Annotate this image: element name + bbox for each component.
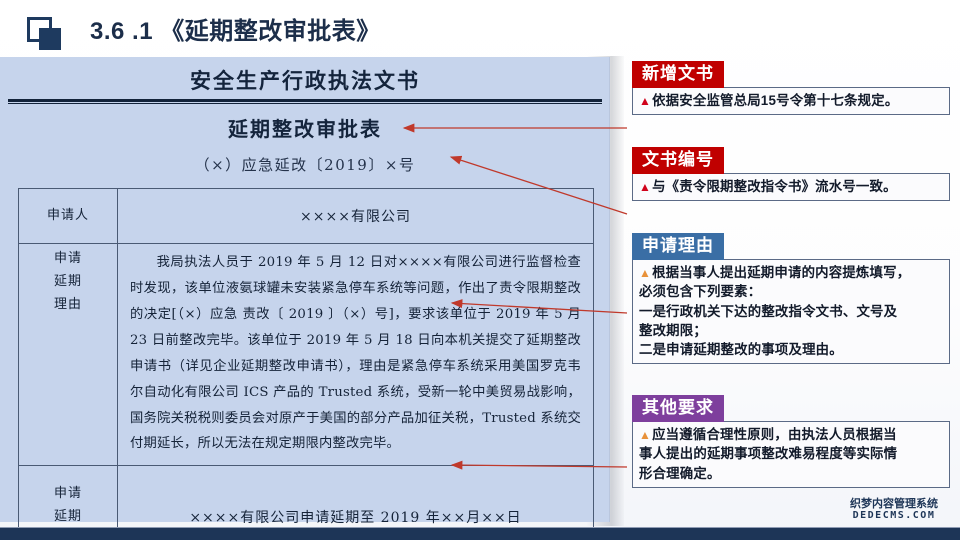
annotation-body: ▲根据当事人提出延期申请的内容提炼填写， 必须包含下列要素： 一是行政机关下达的…	[632, 259, 950, 363]
document-content: 安全生产行政执法文书 延期整改审批表 （×）应急延改〔2019〕×号 申请人 ×…	[0, 57, 610, 522]
annotation-body: ▲与《责令限期整改指令书》流水号一致。	[632, 173, 950, 201]
heading-divider	[8, 99, 602, 105]
annotation-line: ▲与《责令限期整改指令书》流水号一致。	[639, 177, 943, 196]
row-value-reason: 我局执法人员于 2019 年 5 月 12 日对××××有限公司进行监督检查时发…	[118, 244, 594, 466]
annotation-tag: 文书编号	[632, 147, 724, 174]
annotation-document-number: 文书编号 ▲与《责令限期整改指令书》流水号一致。	[632, 147, 950, 201]
annotation-other-requirements: 其他要求 ▲应当遵循合理性原则，由执法人员根据当 事人提出的延期事项整改难易程度…	[632, 395, 950, 488]
annotation-tag: 申请理由	[632, 233, 724, 260]
table-row: 申请延期理由 我局执法人员于 2019 年 5 月 12 日对××××有限公司进…	[19, 244, 594, 466]
table-row: 申请人 ××××有限公司	[19, 189, 594, 244]
page-title: 3.6 .1 《延期整改审批表》	[90, 16, 381, 48]
annotation-line: 事人提出的延期事项整改难易程度等实际情	[639, 444, 943, 463]
double-square-logo-icon	[27, 17, 63, 51]
divider-line-thin	[8, 103, 602, 104]
annotation-line: 整改期限；	[639, 321, 943, 340]
watermark: 织梦内容管理系统 DEDECMS.COM	[832, 498, 956, 522]
logo-filled-square	[39, 28, 61, 50]
annotation-line: 二是申请延期整改的事项及理由。	[639, 340, 943, 359]
divider-line-thick	[8, 99, 602, 102]
annotation-tag: 其他要求	[632, 395, 724, 422]
slide-header: 3.6 .1 《延期整改审批表》	[0, 0, 960, 56]
document-subheading: 延期整改审批表	[0, 113, 610, 142]
row-value-applicant: ××××有限公司	[118, 189, 594, 244]
document-pane: 安全生产行政执法文书 延期整改审批表 （×）应急延改〔2019〕×号 申请人 ×…	[0, 57, 610, 522]
annotation-line: ▲应当遵循合理性原则，由执法人员根据当	[639, 425, 943, 444]
watermark-cn: 织梦内容管理系统	[832, 498, 956, 510]
bottom-bar	[0, 527, 960, 540]
annotation-line: 一是行政机关下达的整改指令文书、文号及	[639, 302, 943, 321]
red-triangle-icon: ▲	[639, 180, 651, 194]
annotation-line: 形合理确定。	[639, 464, 943, 483]
slide-canvas: 3.6 .1 《延期整改审批表》 安全生产行政执法文书 延期整改审批表 （×）应…	[0, 0, 960, 540]
approval-form-table: 申请人 ××××有限公司 申请延期理由 我局执法人员于 2019 年 5 月 1…	[18, 188, 594, 540]
red-triangle-icon: ▲	[639, 94, 651, 108]
orange-triangle-icon: ▲	[639, 428, 651, 442]
row-label-applicant: 申请人	[19, 189, 118, 244]
annotation-line: 必须包含下列要素：	[639, 282, 943, 301]
annotation-tag: 新增文书	[632, 61, 724, 88]
orange-triangle-icon: ▲	[639, 266, 651, 280]
annotation-line: ▲根据当事人提出延期申请的内容提炼填写，	[639, 263, 943, 282]
annotation-column: 新增文书 ▲依据安全监管总局15号令第十七条规定。 文书编号 ▲与《责令限期整改…	[624, 57, 960, 527]
row-label-reason: 申请延期理由	[19, 244, 118, 466]
annotation-new-document: 新增文书 ▲依据安全监管总局15号令第十七条规定。	[632, 61, 950, 115]
annotation-application-reason: 申请理由 ▲根据当事人提出延期申请的内容提炼填写， 必须包含下列要素： 一是行政…	[632, 233, 950, 364]
annotation-body: ▲应当遵循合理性原则，由执法人员根据当 事人提出的延期事项整改难易程度等实际情 …	[632, 421, 950, 487]
document-heading: 安全生产行政执法文书	[0, 65, 610, 95]
watermark-en: DEDECMS.COM	[832, 510, 956, 522]
annotation-body: ▲依据安全监管总局15号令第十七条规定。	[632, 87, 950, 115]
annotation-line: ▲依据安全监管总局15号令第十七条规定。	[639, 91, 943, 110]
document-number: （×）应急延改〔2019〕×号	[0, 154, 610, 175]
